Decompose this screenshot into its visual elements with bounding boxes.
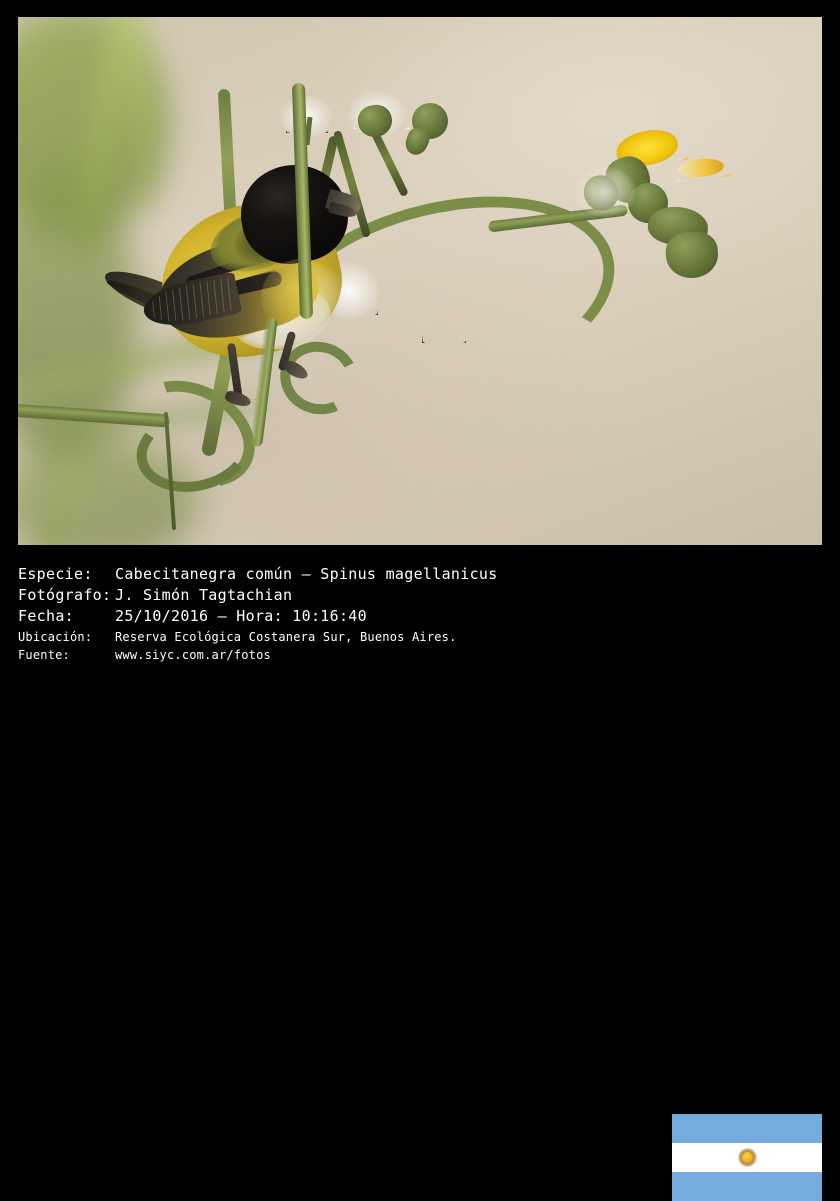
caption-row-especie: Especie:Cabecitanegra común — Spinus mag… bbox=[18, 567, 498, 582]
caption-value-fuente: www.siyc.com.ar/fotos bbox=[115, 649, 271, 661]
caption-label-fotografo: Fotógrafo: bbox=[18, 588, 115, 603]
caption-label-fecha: Fecha: bbox=[18, 609, 115, 624]
caption-value-ubicacion: Reserva Ecológica Costanera Sur, Buenos … bbox=[115, 631, 457, 643]
argentina-flag bbox=[672, 1114, 822, 1201]
screenshot-root: Especie:Cabecitanegra común — Spinus mag… bbox=[0, 0, 840, 668]
caption-value-especie: Cabecitanegra común — Spinus magellanicu… bbox=[115, 567, 498, 582]
seed-head-filaments bbox=[354, 93, 410, 129]
caption-row-fotografo: Fotógrafo:J. Simón Tagtachian bbox=[18, 588, 292, 603]
caption-label-especie: Especie: bbox=[18, 567, 115, 582]
sun-of-may-icon bbox=[738, 1148, 757, 1167]
caption-row-fuente: Fuente:www.siyc.com.ar/fotos bbox=[18, 649, 271, 661]
yellow-flower-rays bbox=[673, 150, 731, 182]
seed-head-filaments bbox=[422, 305, 466, 343]
bird-photograph bbox=[18, 17, 822, 545]
caption-label-ubicacion: Ubicación: bbox=[18, 631, 115, 643]
caption-row-fecha: Fecha:25/10/2016 — Hora: 10:16:40 bbox=[18, 609, 367, 624]
caption-value-fotografo: J. Simón Tagtachian bbox=[115, 588, 292, 603]
hooded-siskin-bird bbox=[113, 155, 388, 410]
caption-label-fuente: Fuente: bbox=[18, 649, 115, 661]
seed-head bbox=[574, 167, 636, 217]
caption-panel: Especie:Cabecitanegra común — Spinus mag… bbox=[0, 546, 840, 668]
bird-foot bbox=[280, 357, 311, 382]
flag-band-bottom bbox=[672, 1172, 822, 1201]
caption-row-ubicacion: Ubicación:Reserva Ecológica Costanera Su… bbox=[18, 631, 457, 643]
sun-face bbox=[742, 1152, 753, 1163]
caption-value-fecha: 25/10/2016 — Hora: 10:16:40 bbox=[115, 609, 367, 624]
flag-band-top bbox=[672, 1114, 822, 1143]
flower-bud bbox=[664, 230, 719, 280]
bird-foot bbox=[224, 389, 252, 408]
